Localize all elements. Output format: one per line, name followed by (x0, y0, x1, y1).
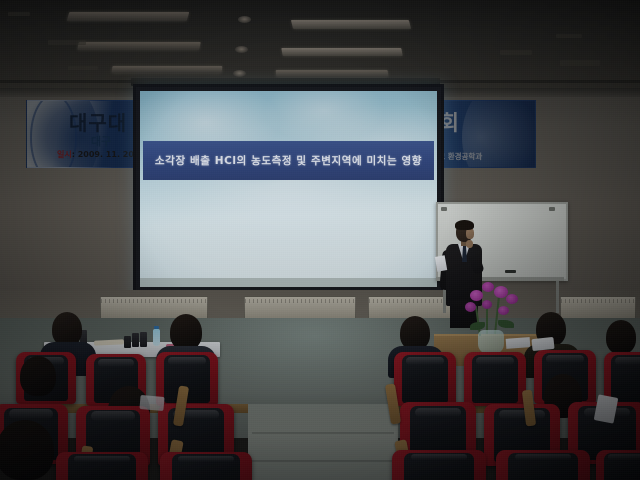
orchid-bloom (470, 290, 483, 301)
auditorium-seat (392, 450, 486, 480)
ceiling-vent (68, 66, 98, 70)
orchid-bloom (465, 302, 476, 312)
slide-bottom-strip (140, 278, 437, 287)
audience-head (400, 316, 430, 350)
beverage-can (140, 332, 147, 347)
bottle-cap (154, 326, 159, 329)
desk-papers (506, 337, 531, 349)
ceiling-downlight (235, 46, 248, 53)
orchid-bloom (482, 300, 492, 309)
ceiling-light-fixture (276, 70, 389, 77)
aisle-step (248, 460, 398, 462)
auditorium-seat (496, 450, 590, 480)
orchid-bloom (506, 294, 518, 304)
slide-title-band: 소각장 배출 HCl의 농도측정 및 주변지역에 미치는 영향 (143, 141, 434, 180)
presenter-hair (455, 220, 474, 230)
projected-slide: 소각장 배출 HCl의 농도측정 및 주변지역에 미치는 영향 (140, 91, 437, 287)
auditorium-seat (394, 352, 456, 406)
audience-handout (139, 395, 164, 411)
projection-haze (140, 91, 437, 287)
auditorium-seat (596, 450, 640, 480)
beverage-can (132, 333, 139, 347)
lecture-hall-photo: 대구대 대구 일시: 2009. 11. 20(금 발표회 발표회 : 대구대학… (0, 0, 640, 480)
auditorium-seat (464, 352, 526, 406)
beverage-can (124, 336, 131, 348)
ceiling-vent (8, 12, 30, 16)
auditorium-seat (160, 452, 252, 480)
ceiling-light-fixture (281, 48, 402, 56)
orchid-leaf (498, 320, 514, 328)
audience-head (170, 314, 202, 350)
audience-head (52, 312, 82, 346)
water-bottle (153, 329, 160, 346)
aisle-step (252, 432, 394, 434)
whiteboard-magnet (549, 207, 555, 211)
ceiling-light-fixture (67, 12, 190, 21)
auditorium-seat (56, 452, 148, 480)
ceiling-light-fixture (112, 66, 223, 73)
slide-title-text: 소각장 배출 HCl의 농도측정 및 주변지역에 미치는 영향 (155, 153, 422, 168)
whiteboard-magnet (441, 207, 447, 211)
projection-screen: 소각장 배출 HCl의 농도측정 및 주변지역에 미치는 영향 (133, 84, 444, 304)
flower-vase (478, 330, 504, 354)
orchid-bloom (482, 282, 494, 292)
whiteboard-marker (505, 270, 516, 273)
orchid-bloom (498, 306, 509, 315)
ceiling-vent (556, 34, 582, 38)
audience-head (606, 320, 636, 354)
ceiling-downlight (233, 70, 246, 77)
ceiling-light-fixture (77, 42, 201, 50)
ceiling-vent (500, 50, 532, 55)
audience-head (0, 420, 54, 480)
presenter-hand (466, 240, 473, 248)
audience-head (20, 356, 56, 396)
center-aisle (248, 404, 398, 480)
ceiling-vent (48, 40, 86, 45)
whiteboard-leg (556, 281, 559, 313)
ceiling-downlight (238, 16, 251, 23)
ceiling-light-fixture (291, 20, 411, 29)
ceiling-vent (560, 60, 600, 66)
audience-handout (531, 337, 554, 351)
